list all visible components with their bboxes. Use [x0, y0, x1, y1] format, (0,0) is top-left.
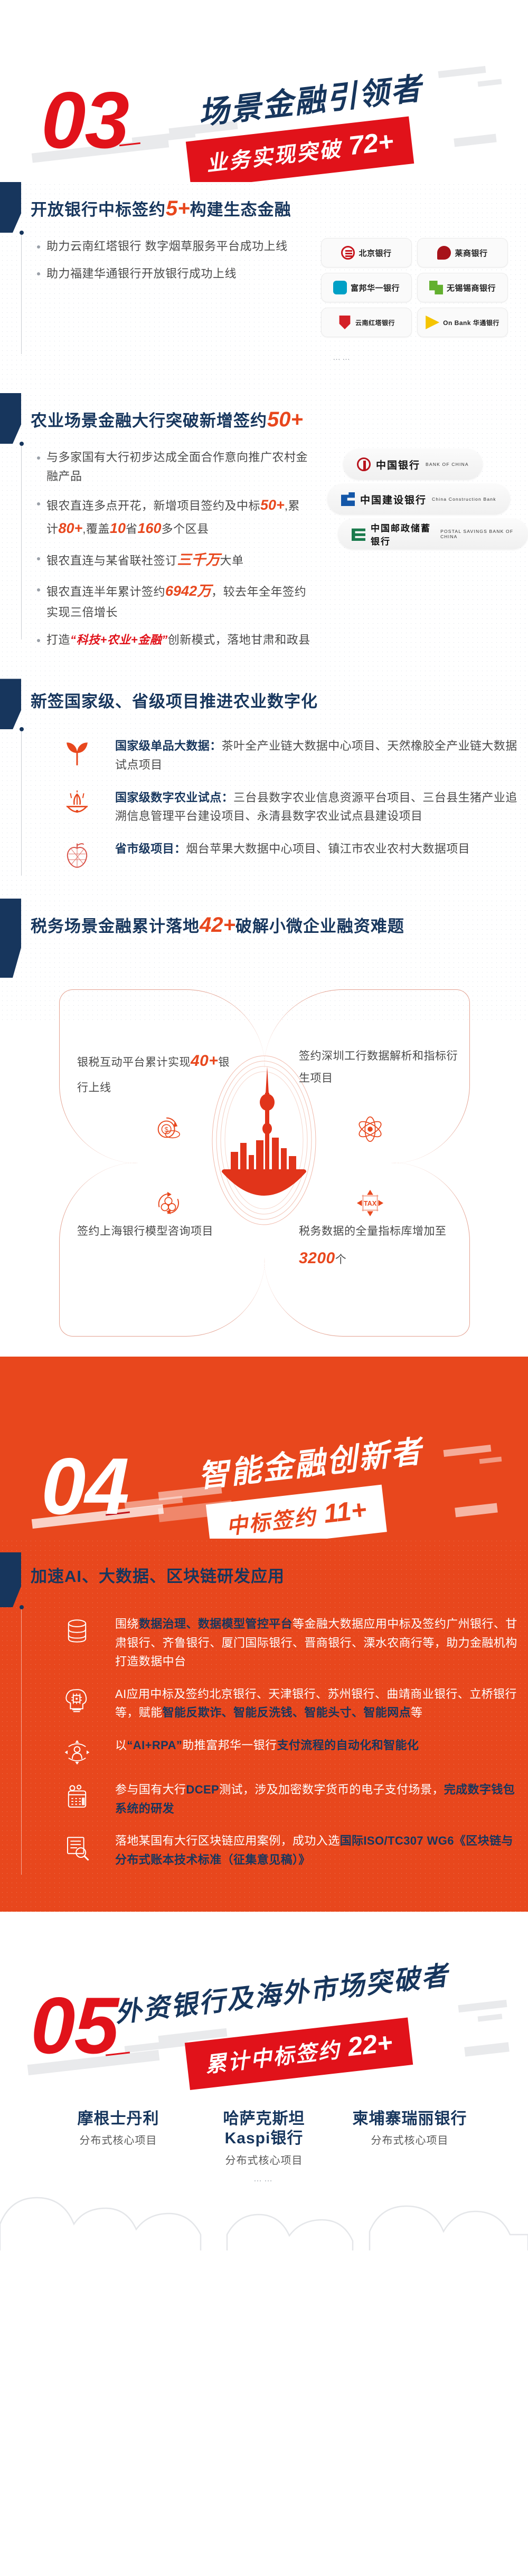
- list-item: 国家级单品大数据：茶叶全产业链大数据中心项目、天然橡胶全产业链大数据试点项目: [57, 737, 517, 774]
- atom-icon: [355, 1114, 385, 1144]
- list-item: 省市级项目：烟台苹果大数据中心项目、镇江市农业农村大数据项目: [57, 839, 517, 870]
- certificate-icon: [63, 1834, 91, 1862]
- list-item: 银农直连多点开花，新增项目签约及中标50+,累计80+,覆盖10省160多个区县: [37, 494, 312, 540]
- text-run: 签约深圳工行数据解析和指标衍生项目: [299, 1050, 458, 1084]
- bank-logo-pill: 中国邮政储蓄银行POSTAL SAVINGS BANK OF CHINA: [338, 519, 528, 549]
- ai-heading-text: 加速AI、大数据、区块链研发应用: [31, 1563, 528, 1588]
- ai-item-list: 围绕数据治理、数据模型管控平台等金融大数据应用中标及签约广州银行、甘肃银行、齐鲁…: [31, 1607, 528, 1893]
- digital-ag-project-list: 国家级单品大数据：茶叶全产业链大数据中心项目、天然橡胶全产业链大数据试点项目 国…: [31, 729, 528, 893]
- heading-notch: [0, 679, 21, 729]
- open-banking-heading-number: 5+: [166, 197, 190, 220]
- tax-heading: 税务场景金融累计落地42+破解小微企业融资难题: [0, 899, 528, 978]
- section-number-03: 03: [41, 80, 128, 160]
- text-run: 数据治理、数据模型管控平台: [139, 1617, 293, 1630]
- text-run: 助推富邦华一银行: [182, 1739, 277, 1752]
- text-run: ,覆盖: [82, 522, 110, 536]
- list-item: 助力福建华通银行开放银行成功上线: [37, 264, 312, 283]
- bank-logo-pill: 中国建设银行China Construction Bank: [327, 484, 510, 514]
- overseas-bank-item: 柬埔寨瑞丽银行分布式核心项目: [349, 2109, 470, 2167]
- bank-name: 柬埔寨瑞丽银行: [349, 2109, 470, 2129]
- text-run: 银农直连多点开花，新增项目签约及中标: [46, 499, 260, 512]
- open-banking-bullets: 助力云南红塔银行 数字烟草服务平台成功上线 助力福建华通银行开放银行成功上线: [31, 233, 316, 291]
- text-run: 等: [411, 1706, 422, 1719]
- tax-arrows-icon: TAX: [355, 1188, 385, 1218]
- section-tag-text-03: 业务实现突破: [205, 137, 343, 176]
- bank-name-en: POSTAL SAVINGS BANK OF CHINA: [440, 529, 514, 539]
- text-run: 个: [335, 1254, 347, 1266]
- section-tag-number-03: 72+: [347, 126, 395, 160]
- text-run: 测试，涉及加密数字货币的电子支付场景，: [219, 1783, 444, 1796]
- bank-name: 莱商银行: [455, 247, 487, 259]
- rpa-icon: [63, 1738, 91, 1767]
- svg-text:TAX: TAX: [364, 1200, 377, 1207]
- bank-logo-pill: 中国银行BANK OF CHINA: [343, 449, 483, 480]
- bank-logo-chip: 无锡锡商银行: [417, 273, 508, 302]
- yunnan-hongta-bank-icon: [338, 316, 352, 329]
- bank-name: 北京银行: [359, 247, 391, 259]
- bank-name: 云南红塔银行: [355, 318, 395, 327]
- bank-name: 摩根士丹利: [58, 2109, 179, 2129]
- text-run: 40+: [191, 1052, 218, 1070]
- project-type: 分布式核心项目: [58, 2132, 179, 2147]
- section-title-04: 智能金融创新者: [195, 1426, 425, 1496]
- text-run: 参与国有大行: [115, 1783, 186, 1796]
- agriculture-heading-pre: 农业场景金融大行突破新增签约: [31, 412, 267, 430]
- bank-name: 富邦华一银行: [351, 282, 400, 293]
- bank-logo-chip: 云南红塔银行: [321, 308, 412, 337]
- agriculture-bullets: 与多家国有大行初步达成全面合作意向推广农村金融产品银农直连多点开花，新增项目签约…: [31, 444, 316, 657]
- text-run: “科技+农业+金融”: [70, 633, 168, 646]
- clouds-decoration: [0, 2177, 528, 2250]
- section-banner-04: 04 智能金融创新者 中标签约11+: [0, 1357, 528, 1539]
- quadrant-text: 税务数据的全量指标库增加至3200个: [299, 1220, 463, 1274]
- bank-name: 哈萨克斯坦Kaspi银行: [203, 2109, 325, 2149]
- list-item: 国家级数字农业试点：三台县数字农业信息资源平台项目、三台县生猪产业追溯信息管理平…: [57, 788, 517, 826]
- item-text: 围绕数据治理、数据模型管控平台等金融大数据应用中标及签约广州银行、甘肃银行、齐鲁…: [115, 1615, 517, 1671]
- agriculture-logos: 中国银行BANK OF CHINA 中国建设银行China Constructi…: [321, 444, 528, 549]
- section-tag-text-05: 累计中标签约: [204, 2038, 342, 2077]
- overseas-banks-section: 摩根士丹利分布式核心项目哈萨克斯坦Kaspi银行分布式核心项目柬埔寨瑞丽银行分布…: [0, 2091, 528, 2250]
- ai-bigdata-blockchain-section: 加速AI、大数据、区块链研发应用 围绕数据治理、数据模型管控平台等金融大数据应用…: [0, 1539, 528, 1912]
- digital-ag-heading-text: 新签国家级、省级项目推进农业数字化: [31, 688, 528, 713]
- item-text: 落地某国有大行区块链应用案例，成功入选国际ISO/TC307 WG6《区块链与分…: [115, 1831, 517, 1869]
- section-tag-05: 累计中标签约22+: [185, 2017, 413, 2090]
- wuxi-xishang-bank-icon: [429, 281, 443, 294]
- bank-name: 中国邮政储蓄银行: [371, 521, 435, 547]
- cycle-model-icon: [153, 1188, 184, 1218]
- digital-agriculture-section: 新签国家级、省级项目推进农业数字化 国家级单品大数据：茶叶全产业链大数据中心项目…: [0, 679, 528, 899]
- bank-logo-chip: 北京银行: [321, 238, 412, 268]
- bank-of-beijing-icon: [341, 246, 355, 260]
- tax-heading-number: 42+: [200, 913, 235, 937]
- heading-notch: [0, 182, 21, 233]
- section-number-05: 05: [31, 1986, 118, 2066]
- bank-name: 中国建设银行: [360, 492, 427, 507]
- section-banner-03: 03 场景金融引领者 业务实现突破72+: [0, 0, 528, 182]
- quadrant-text: 签约上海银行模型咨询项目: [77, 1220, 241, 1243]
- china-construction-bank-icon: [341, 492, 355, 506]
- sprout-icon: [63, 739, 91, 767]
- bank-logo-chip: On Bank 华通银行: [417, 308, 508, 337]
- text-run: 多个区县: [162, 522, 209, 536]
- text-run: 大单: [220, 554, 244, 567]
- section-tag-04: 中标签约11+: [206, 1485, 387, 1539]
- overseas-bank-item: 哈萨克斯坦Kaspi银行分布式核心项目: [203, 2109, 325, 2167]
- agriculture-heading: 农业场景金融大行突破新增签约50+: [0, 393, 528, 444]
- ai-heading: 加速AI、大数据、区块链研发应用: [0, 1539, 528, 1607]
- more-banks-indicator: ……: [0, 2174, 528, 2184]
- onbank-icon: [426, 316, 439, 329]
- quadrant-text: 签约深圳工行数据解析和指标衍生项目: [299, 1045, 463, 1090]
- coin-clock-icon: $: [153, 1114, 184, 1144]
- agriculture-section: 农业场景金融大行突破新增签约50+ 与多家国有大行初步达成全面合作意向推广农村金…: [0, 393, 528, 679]
- text-run: “AI+RPA”: [127, 1739, 182, 1752]
- text-run: 落地某国有大行区块链应用案例，成功入选: [115, 1834, 340, 1847]
- section-banner-05: 05 外资银行及海外市场突破者 累计中标签约22+: [0, 1912, 528, 2091]
- open-banking-section: 开放银行中标签约5+构建生态金融 助力云南红塔银行 数字烟草服务平台成功上线 助…: [0, 182, 528, 393]
- overseas-bank-item: 摩根士丹利分布式核心项目: [58, 2109, 179, 2167]
- section-number-04: 04: [41, 1446, 128, 1526]
- bank-name: 中国银行: [376, 457, 420, 472]
- heading-notch: [0, 393, 21, 444]
- text-run: 银农直连与某省联社签订: [46, 554, 177, 567]
- project-label: 国家级数字农业试点：: [115, 791, 233, 804]
- bank-name-en: China Construction Bank: [432, 497, 496, 502]
- laishang-bank-icon: [437, 246, 451, 260]
- bank-logo-chip: 富邦华一银行: [321, 273, 412, 302]
- text-run: 签约上海银行模型咨询项目: [77, 1225, 213, 1237]
- rice-bowl-icon: [63, 790, 91, 819]
- project-type: 分布式核心项目: [349, 2132, 470, 2147]
- project-label: 国家级单品大数据：: [115, 739, 222, 752]
- digital-wallet-icon: [63, 1782, 91, 1811]
- bank-name: 无锡锡商银行: [447, 282, 496, 293]
- list-item: 与多家国有大行初步达成全面合作意向推广农村金融产品: [37, 448, 312, 485]
- list-item: 银农直连半年累计签约6942万，较去年全年签约实现三倍增长: [37, 580, 312, 622]
- open-banking-logos: 北京银行 莱商银行 富邦华一银行 无锡锡商银行: [321, 233, 528, 372]
- text-run: DCEP: [186, 1783, 219, 1796]
- agriculture-heading-number: 50+: [267, 408, 303, 431]
- tax-heading-pre: 税务场景金融累计落地: [31, 917, 200, 936]
- infographic-page: 03 场景金融引领者 业务实现突破72+ 开放银行中标签约5+构建生态金融 助力…: [0, 0, 528, 2250]
- text-run: 6942万: [165, 583, 211, 599]
- fubon-huayi-bank-icon: [333, 281, 347, 294]
- tax-heading-post: 破解小微企业融资难题: [235, 917, 404, 936]
- text-run: 智能反欺诈、智能反洗钱、智能头寸、智能网点: [163, 1706, 411, 1719]
- ai-brain-icon: [63, 1687, 91, 1715]
- text-run: 打造: [46, 633, 70, 646]
- text-run: 50+: [260, 497, 285, 513]
- open-banking-heading: 开放银行中标签约5+构建生态金融: [0, 182, 528, 233]
- text-run: 160: [138, 520, 162, 536]
- text-run: 银税互动平台累计实现: [77, 1056, 191, 1068]
- section-tag-number-04: 11+: [322, 1494, 368, 1529]
- text-run: 支付流程的自动化和智能化: [277, 1739, 419, 1752]
- open-banking-heading-pre: 开放银行中标签约: [31, 201, 166, 219]
- open-banking-heading-post: 构建生态金融: [190, 201, 291, 219]
- tax-quadrant-diagram: $ TAX: [0, 982, 528, 1351]
- bank-logo-chip: 莱商银行: [417, 238, 508, 268]
- list-item: AI应用中标及签约北京银行、天津银行、苏州银行、曲靖商业银行、立桥银行等，赋能智…: [57, 1685, 517, 1722]
- database-icon: [63, 1617, 91, 1645]
- postal-savings-bank-icon: [352, 527, 365, 541]
- text-run: 围绕: [115, 1617, 139, 1630]
- text-run: 省: [126, 522, 138, 536]
- bank-name: On Bank 华通银行: [443, 318, 499, 327]
- apple-icon: [63, 842, 91, 870]
- text-run: 80+: [59, 520, 83, 536]
- text-run: 与多家国有大行初步达成全面合作意向推广农村金融产品: [46, 451, 308, 483]
- heading-notch: [0, 899, 21, 978]
- tax-section: 税务场景金融累计落地42+破解小微企业融资难题: [0, 899, 528, 1357]
- list-item: 助力云南红塔银行 数字烟草服务平台成功上线: [37, 237, 312, 256]
- list-item: 围绕数据治理、数据模型管控平台等金融大数据应用中标及签约广州银行、甘肃银行、齐鲁…: [57, 1615, 517, 1671]
- project-type: 分布式核心项目: [203, 2152, 325, 2167]
- list-item: 参与国有大行DCEP测试，涉及加密数字货币的电子支付场景，完成数字钱包系统的研发: [57, 1780, 517, 1818]
- digital-ag-heading: 新签国家级、省级项目推进农业数字化: [0, 679, 528, 729]
- item-text: AI应用中标及签约北京银行、天津银行、苏州银行、曲靖商业银行、立桥银行等，赋能智…: [115, 1685, 517, 1722]
- more-logos-indicator: ……: [321, 342, 363, 372]
- quadrant-text: 银税互动平台累计实现40+银行上线: [77, 1045, 241, 1099]
- text-run: 三千万: [177, 552, 220, 568]
- bank-name-en: BANK OF CHINA: [426, 462, 469, 467]
- item-text: 参与国有大行DCEP测试，涉及加密数字货币的电子支付场景，完成数字钱包系统的研发: [115, 1780, 517, 1818]
- list-item: 落地某国有大行区块链应用案例，成功入选国际ISO/TC307 WG6《区块链与分…: [57, 1831, 517, 1869]
- heading-notch: [0, 1552, 21, 1607]
- project-body: 烟台苹果大数据中心项目、镇江市农业农村大数据项目: [186, 842, 470, 855]
- text-run: 创新模式，落地甘肃和政县: [168, 633, 310, 646]
- project-label: 省市级项目：: [115, 842, 186, 855]
- item-text: 以“AI+RPA”助推富邦华一银行支付流程的自动化和智能化: [115, 1736, 517, 1755]
- list-item: 打造“科技+农业+金融”创新模式，落地甘肃和政县: [37, 631, 312, 650]
- text-run: 银农直连半年累计签约: [46, 585, 165, 598]
- list-item: 银农直连与某省联社签订三千万大单: [37, 549, 312, 572]
- section-tag-number-05: 22+: [346, 2027, 394, 2062]
- text-run: 税务数据的全量指标库增加至: [299, 1225, 447, 1237]
- bank-of-china-icon: [357, 457, 371, 471]
- text-run: 10: [110, 520, 126, 536]
- text-run: 以: [115, 1739, 127, 1752]
- text-run: 3200: [299, 1249, 335, 1267]
- section-tag-text-04: 中标签约: [225, 1505, 318, 1539]
- list-item: 以“AI+RPA”助推富邦华一银行支付流程的自动化和智能化: [57, 1736, 517, 1767]
